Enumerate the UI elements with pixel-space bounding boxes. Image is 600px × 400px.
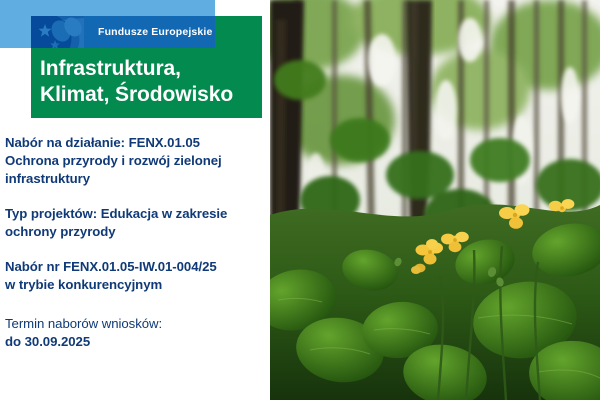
deadline-block: Termin naborów wniosków: do 30.09.2025 [5, 315, 263, 351]
announcement-text-block: Nabór na działanie: FENX.01.05 Ochrona p… [5, 134, 263, 351]
eu-funds-logo-band: Fundusze Europejskie [31, 16, 215, 48]
project-type-paragraph: Typ projektów: Edukacja w zakresie ochro… [5, 205, 263, 241]
call-number-paragraph: Nabór nr FENX.01.05-IW.01-004/25 w trybi… [5, 258, 263, 294]
call-action-paragraph: Nabór na działanie: FENX.01.05 Ochrona p… [5, 134, 263, 188]
forest-photo [270, 0, 600, 400]
accent-bar-top [0, 0, 215, 17]
eu-funds-logo-label: Fundusze Europejskie [84, 26, 212, 38]
deadline-label: Termin naborów wniosków: [5, 315, 263, 333]
eu-funds-stars-emblem [31, 16, 84, 48]
programme-title: Infrastruktura, Klimat, Środowisko [40, 56, 265, 108]
accent-bar-side [0, 17, 31, 48]
deadline-value: do 30.09.2025 [5, 333, 263, 351]
left-column: Fundusze Europejskie Infrastruktura, Kli… [0, 0, 265, 400]
poster-root: Fundusze Europejskie Infrastruktura, Kli… [0, 0, 600, 400]
